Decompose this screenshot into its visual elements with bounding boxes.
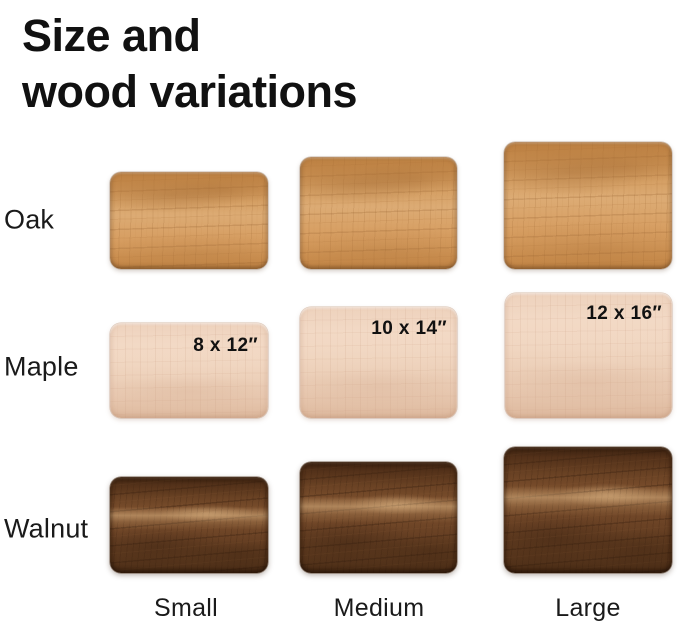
board-oak-small[interactable] [110, 172, 268, 269]
board-maple-medium[interactable]: 10 x 14″ [300, 307, 457, 418]
board-walnut-medium[interactable] [300, 462, 457, 573]
dimension-label-large: 12 x 16″ [586, 303, 662, 325]
board-oak-medium[interactable] [300, 157, 457, 269]
board-walnut-large[interactable] [504, 447, 672, 573]
dimension-label-small: 8 x 12″ [193, 335, 258, 357]
col-label-medium: Medium [334, 594, 425, 623]
row-label-maple: Maple [4, 352, 79, 383]
col-label-small: Small [154, 594, 218, 623]
wood-grain-texture [504, 142, 672, 269]
wood-grain-texture [110, 477, 268, 573]
board-walnut-small[interactable] [110, 477, 268, 573]
board-oak-large[interactable] [504, 142, 672, 269]
size-wood-grid: Oak Maple Walnut 8 x 12″ 10 x 14″ 12 x 1… [0, 0, 679, 628]
col-label-large: Large [555, 594, 620, 623]
board-maple-large[interactable]: 12 x 16″ [505, 293, 672, 418]
wood-grain-texture [110, 172, 268, 269]
board-maple-small[interactable]: 8 x 12″ [110, 323, 268, 418]
row-label-oak: Oak [4, 205, 54, 236]
row-label-walnut: Walnut [4, 514, 88, 545]
wood-grain-texture [504, 447, 672, 573]
wood-grain-texture [300, 157, 457, 269]
wood-grain-texture [300, 462, 457, 573]
dimension-label-medium: 10 x 14″ [371, 318, 447, 340]
